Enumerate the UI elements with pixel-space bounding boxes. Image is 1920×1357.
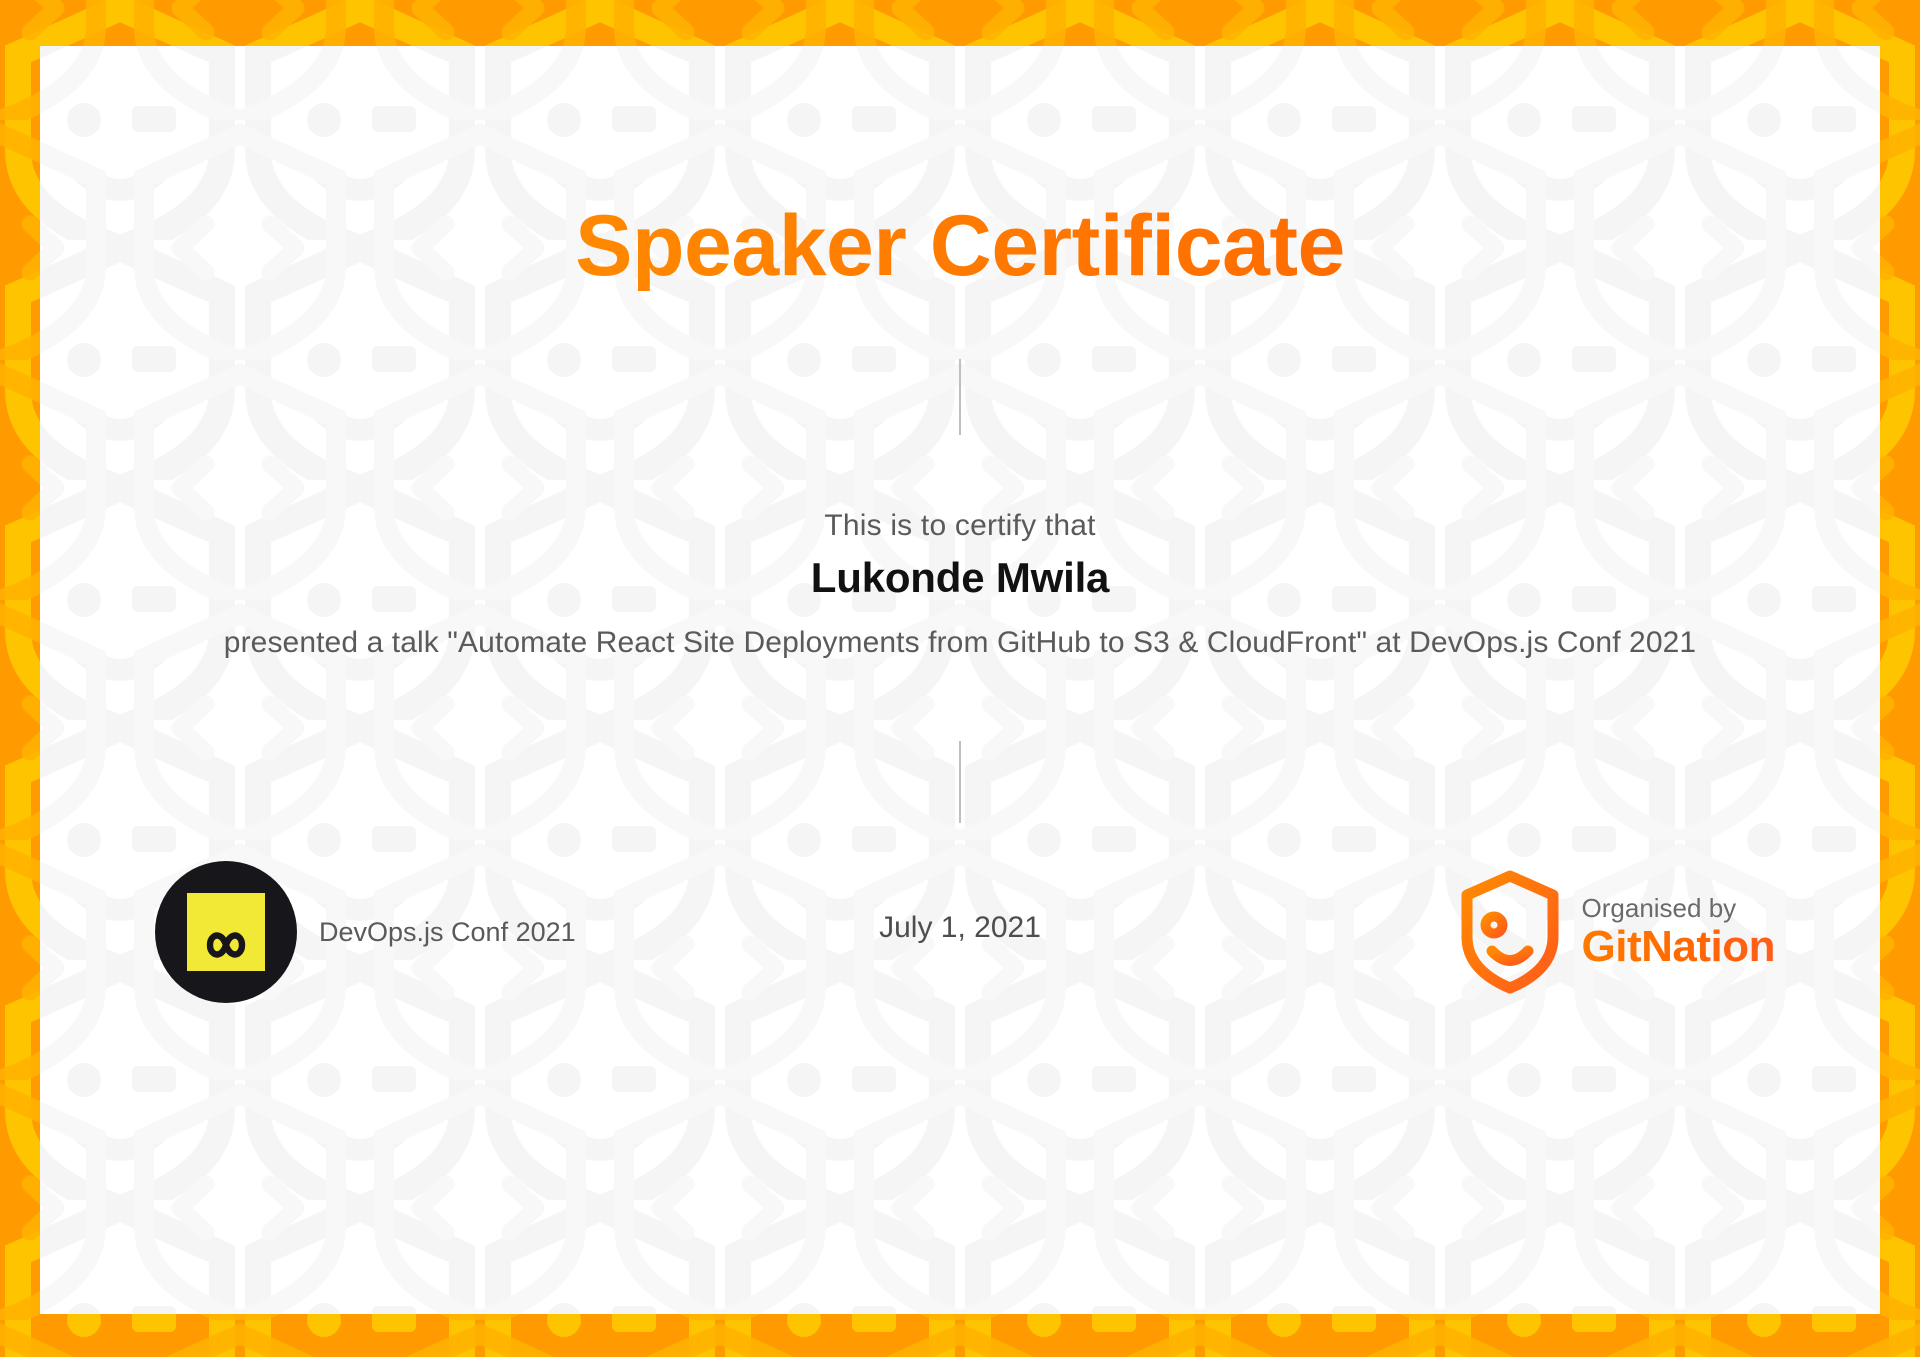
certificate-footer: DevOps.js Conf 2021 July 1, 2021 — [40, 861, 1880, 1041]
organised-by-label: Organised by — [1582, 894, 1775, 923]
certificate-root: Speaker Certificate This is to certify t… — [0, 0, 1920, 1357]
divider-top — [959, 359, 961, 435]
organiser-mark: Organised by GitNation — [1456, 869, 1775, 995]
page-title: Speaker Certificate — [40, 201, 1880, 291]
organiser-name: GitNation — [1582, 924, 1775, 970]
divider-bottom — [959, 741, 961, 823]
certify-statement: This is to certify that — [40, 509, 1880, 543]
talk-description: presented a talk "Automate React Site De… — [220, 622, 1700, 663]
winking-mask-shield-icon — [1456, 869, 1564, 995]
certificate-card: Speaker Certificate This is to certify t… — [40, 46, 1880, 1314]
recipient-name: Lukonde Mwila — [40, 554, 1880, 602]
